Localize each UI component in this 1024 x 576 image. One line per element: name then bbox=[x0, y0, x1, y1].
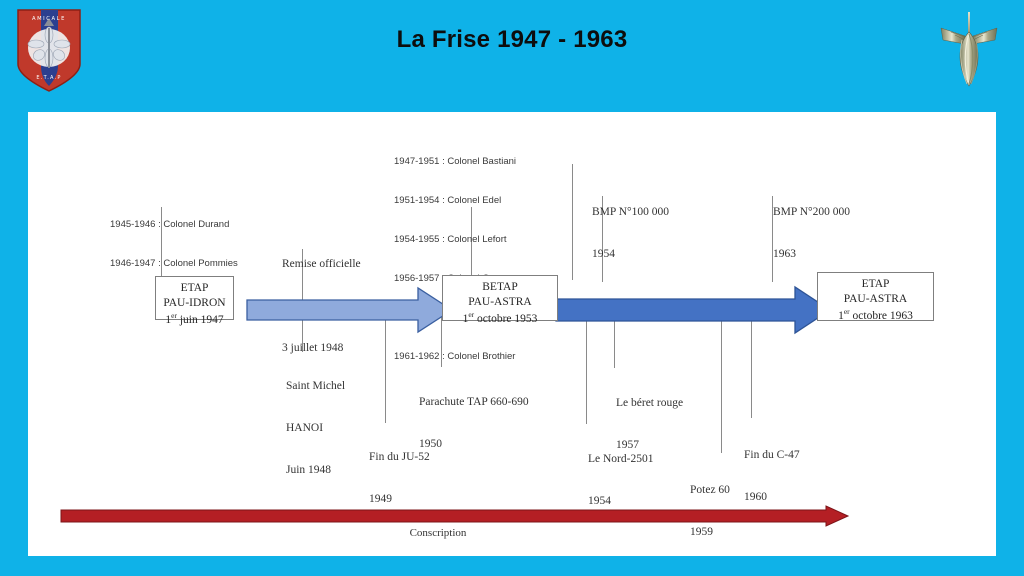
box-betap-pau-astra: BETAP PAU-ASTRA 1er octobre 1953 bbox=[442, 275, 558, 321]
page-title: La Frise 1947 - 1963 bbox=[0, 26, 1024, 54]
box-betap-pau-astra-line-1: BETAP bbox=[443, 280, 557, 295]
box-etap-pau-astra-line-1: ETAP bbox=[818, 277, 933, 292]
remise-insigne-line-1: Remise officielle bbox=[282, 257, 367, 271]
bmp-100000: BMP N°100 000 1954 bbox=[592, 177, 669, 289]
parachute-tap-660-690: Parachute TAP 660-690 1950 bbox=[419, 367, 529, 479]
box-etap-pau-idron-line-1: ETAP bbox=[156, 281, 233, 296]
commanders-1947-1962-line-1: 1947-1951 : Colonel Bastiani bbox=[394, 155, 526, 168]
commanders-1945-1947-line-1: 1945-1946 : Colonel Durand bbox=[110, 218, 238, 231]
box-etap-pau-idron-line-2: PAU-IDRON bbox=[156, 296, 233, 311]
commanders-1947-1962-line-2: 1951-1954 : Colonel Edel bbox=[394, 194, 526, 207]
parachute-tap-line-2: 1950 bbox=[419, 437, 529, 451]
paratrooper-wing-badge bbox=[938, 10, 1000, 90]
box-etap-pau-idron-date: 1er juin 1947 bbox=[156, 311, 233, 328]
le-nord-2501-line-1: Le Nord-2501 bbox=[588, 452, 653, 466]
potez-60-line-1: Potez 60 bbox=[690, 483, 730, 497]
commanders-1947-1962-line-6: 1961-1962 : Colonel Brothier bbox=[394, 350, 526, 363]
bmp-200000-line-1: BMP N°200 000 bbox=[773, 205, 850, 219]
bmp-200000-line-2: 1963 bbox=[773, 247, 850, 261]
box-etap-pau-astra: ETAP PAU-ASTRA 1er octobre 1963 bbox=[817, 272, 934, 321]
le-beret-rouge-line-1: Le béret rouge bbox=[616, 396, 683, 410]
box-betap-pau-astra-date: 1er octobre 1953 bbox=[443, 310, 557, 327]
fin-du-ju-52-line-2: 1949 bbox=[369, 492, 430, 506]
parachute-tap-line-1: Parachute TAP 660-690 bbox=[419, 395, 529, 409]
timeline-arrow-1947-1953 bbox=[246, 285, 454, 340]
box-etap-pau-astra-line-2: PAU-ASTRA bbox=[818, 292, 933, 307]
header-band: AMICALE E.T.A.P La Frise 1947 - 1963 bbox=[0, 0, 1024, 112]
fin-du-ju-52-line-1: Fin du JU-52 bbox=[369, 450, 430, 464]
commanders-1947-1962-line-3: 1954-1955 : Colonel Lefort bbox=[394, 233, 526, 246]
saint-michel-hanoi: Saint Michel HANOI Juin 1948 bbox=[286, 351, 345, 505]
timeline-canvas: 1945-1946 : Colonel Durand 1946-1947 : C… bbox=[28, 112, 996, 556]
crest-top-text: AMICALE bbox=[32, 16, 66, 22]
bmp-100000-line-1: BMP N°100 000 bbox=[592, 205, 669, 219]
box-etap-pau-idron: ETAP PAU-IDRON 1er juin 1947 bbox=[155, 276, 234, 320]
crest-bottom-text: E.T.A.P bbox=[36, 75, 61, 81]
commanders-1945-1947-line-2: 1946-1947 : Colonel Pommies bbox=[110, 257, 238, 270]
bmp-100000-line-2: 1954 bbox=[592, 247, 669, 261]
box-betap-pau-astra-line-2: PAU-ASTRA bbox=[443, 295, 557, 310]
saint-michel-line-3: Juin 1948 bbox=[286, 463, 345, 477]
fin-du-c-47-line-2: 1960 bbox=[744, 490, 800, 504]
saint-michel-line-2: HANOI bbox=[286, 421, 345, 435]
conscription-arrow bbox=[60, 505, 850, 532]
connector-line-commanders-center-2 bbox=[572, 164, 573, 280]
saint-michel-line-1: Saint Michel bbox=[286, 379, 345, 393]
timeline-arrow-1953-1963 bbox=[555, 285, 832, 340]
fin-du-c-47-line-1: Fin du C-47 bbox=[744, 448, 800, 462]
box-etap-pau-astra-date: 1er octobre 1963 bbox=[818, 307, 933, 324]
commanders-1947-1962: 1947-1951 : Colonel Bastiani 1951-1954 :… bbox=[394, 129, 526, 389]
